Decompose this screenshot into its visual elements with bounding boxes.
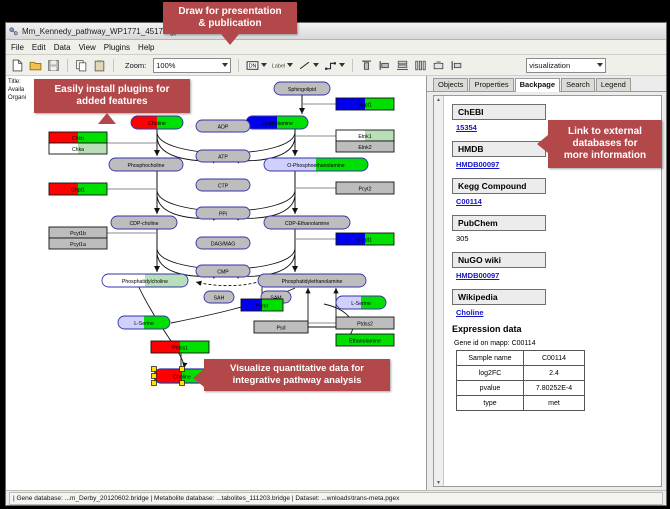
gene-sgpl1[interactable]: Sgpl1: [336, 98, 394, 110]
gene-ethanolamine2[interactable]: Ethanolamine: [336, 334, 394, 346]
scroll-down-icon[interactable]: ▼: [435, 479, 442, 486]
table-row: log2FC 2.4: [457, 366, 585, 381]
group-icon[interactable]: [432, 59, 445, 72]
node-label: L-Serine: [351, 301, 371, 307]
selection-handle[interactable]: [180, 381, 185, 386]
chevron-down-icon[interactable]: [261, 63, 267, 67]
pathway-canvas[interactable]: Title: Availa Organi: [6, 76, 427, 490]
metabolite-l-serine-right[interactable]: L-Serine: [336, 296, 386, 309]
backpage-header-nugo: NuGO wiki: [452, 252, 546, 268]
menu-item-edit[interactable]: Edit: [32, 43, 46, 52]
zoom-combobox[interactable]: 100%: [153, 58, 231, 73]
screenshot-root: Mm_Kennedy_pathway_WP1771_45176.gpml Fil…: [0, 0, 670, 509]
node-label: CDP-choline: [129, 221, 158, 227]
menu-item-plugins[interactable]: Plugins: [104, 43, 130, 52]
callout-visualize: Visualize quantitative data for integrat…: [204, 359, 390, 391]
node-label: Pemt: [256, 304, 269, 310]
node-label: Phosphatidylcholine: [122, 279, 168, 285]
node-label: CDP-Ethanolamine: [285, 221, 330, 227]
table-row: Sample name C00114: [457, 351, 585, 366]
table-row: type met: [457, 396, 585, 411]
visualization-combobox[interactable]: visualization: [526, 58, 606, 73]
node-label: Choline: [148, 121, 166, 127]
node-label: Ptdss1: [172, 346, 188, 352]
menu-item-view[interactable]: View: [79, 43, 96, 52]
chevron-down-icon[interactable]: [597, 63, 603, 67]
node-label: Pcyt1b: [70, 231, 86, 237]
callout-plugins: Easily install plugins for added feature…: [34, 79, 190, 113]
align-left-icon[interactable]: [378, 59, 391, 72]
label-tool[interactable]: Label: [272, 59, 293, 72]
callout-external-line2: databases for: [564, 138, 646, 150]
node-label: ADP: [218, 125, 229, 131]
node-label: PPi: [219, 212, 227, 218]
toolbar-separator: [67, 59, 68, 72]
menu-item-data[interactable]: Data: [54, 43, 71, 52]
callout-external: Link to external databases for more info…: [548, 120, 662, 168]
metabolite-l-serine-left[interactable]: L-Serine: [118, 316, 170, 329]
tab-search[interactable]: Search: [561, 78, 595, 91]
metabolite-adp[interactable]: ADP: [196, 120, 250, 132]
chevron-down-icon[interactable]: [313, 63, 319, 67]
save-icon[interactable]: [47, 59, 60, 72]
node-label: Chpt1: [71, 188, 85, 194]
metabolite-cmp[interactable]: CMP: [196, 265, 250, 277]
status-text: | Gene database: ...m_Derby_20120602.bri…: [9, 492, 663, 505]
bring-front-icon[interactable]: [450, 59, 463, 72]
callout-plugins-line2: added features: [54, 96, 169, 108]
callout-visualize-arrow-icon: [193, 369, 204, 387]
expr-val-sample-name: C00114: [524, 351, 585, 366]
node-label: Chkb: [72, 136, 84, 142]
gene-pcyt2[interactable]: Pcyt2: [336, 182, 394, 194]
toolbar-separator: [352, 59, 353, 72]
expr-key-type: type: [457, 396, 524, 411]
side-panel-tabs: Objects Properties Backpage Search Legen…: [427, 76, 666, 92]
node-label: Etnk1: [358, 134, 371, 140]
expr-key-log2fc: log2FC: [457, 366, 524, 381]
connector-tool[interactable]: [324, 59, 345, 72]
connector-icon[interactable]: [324, 59, 337, 72]
callout-plugins-arrow-icon: [98, 113, 116, 124]
gene-id-on-mapp: Gene id on mapp: C00114: [454, 340, 655, 347]
node-label: ATP: [218, 155, 228, 161]
metabolite-ppi[interactable]: PPi: [196, 207, 250, 219]
callout-external-arrow-icon: [537, 135, 548, 153]
zoom-label: Zoom:: [125, 61, 146, 70]
node-label: CTP: [218, 184, 229, 190]
gene-chkb[interactable]: Chkb: [49, 132, 107, 143]
selection-handle[interactable]: [152, 367, 157, 372]
pathvisio-icon: [9, 27, 18, 36]
node-label: SAH: [214, 296, 225, 302]
expr-key-pvalue: pvalue: [457, 381, 524, 396]
node-label: Psd: [277, 326, 286, 332]
align-top-icon[interactable]: [360, 59, 373, 72]
metabolite-ctp[interactable]: CTP: [196, 179, 250, 191]
metabolite-cdp-ethanolamine[interactable]: CDP-Ethanolamine: [264, 216, 350, 229]
expr-val-pvalue: 7.80252E-4: [524, 381, 585, 396]
gene-cept1[interactable]: Cept1: [336, 233, 394, 245]
expression-data-table: Sample name C00114 log2FC 2.4 pvalue 7.8…: [456, 350, 585, 411]
metabolite-cdp-choline[interactable]: CDP-choline: [111, 216, 177, 229]
menu-bar: File Edit Data View Plugins Help: [6, 40, 666, 55]
gene-pemt[interactable]: Pemt: [241, 299, 283, 311]
node-label: Pcyt1a: [70, 242, 86, 248]
metabolite-phosphocholine[interactable]: Phosphocholine: [109, 158, 183, 171]
line-icon[interactable]: [298, 59, 311, 72]
title-bar: Mm_Kennedy_pathway_WP1771_45176.gpml: [6, 23, 666, 40]
backpage-value-pubchem: 305: [456, 234, 655, 243]
callout-plugins-line1: Easily install plugins for: [54, 84, 169, 96]
node-label: Etnk2: [358, 145, 371, 151]
node-label: Sphingolipid: [288, 87, 316, 93]
selection-handle[interactable]: [152, 374, 157, 379]
expression-data-title: Expression data: [452, 324, 655, 334]
expr-val-log2fc: 2.4: [524, 366, 585, 381]
gene-etnk1[interactable]: Etnk1: [336, 130, 394, 141]
zoom-value: 100%: [156, 61, 175, 70]
backpage-header-pubchem: PubChem: [452, 215, 546, 231]
node-label: L-Serine: [134, 321, 154, 327]
gene-ptdss1[interactable]: Ptdss1: [151, 341, 209, 353]
toolbar-separator: [238, 59, 239, 72]
tab-legend[interactable]: Legend: [596, 78, 631, 91]
expr-val-type: met: [524, 396, 585, 411]
menu-item-file[interactable]: File: [11, 43, 24, 52]
gene-pcyt1a[interactable]: Pcyt1a: [49, 238, 107, 249]
menu-item-help[interactable]: Help: [138, 43, 154, 52]
toolbar: Zoom: 100% DN Label: [6, 55, 666, 76]
tab-objects[interactable]: Objects: [433, 78, 468, 91]
selection-handle[interactable]: [180, 367, 185, 372]
status-bar: | Gene database: ...m_Derby_20120602.bri…: [6, 490, 666, 505]
datanode-tool[interactable]: DN: [246, 59, 267, 72]
gene-chpt1[interactable]: Chpt1: [49, 183, 107, 195]
backpage-link-wikipedia[interactable]: Choline: [456, 308, 655, 317]
callout-draw-line2: & publication: [178, 18, 281, 30]
tab-backpage[interactable]: Backpage: [515, 78, 560, 92]
node-label: Choline: [173, 375, 191, 381]
node-label: Phosphocholine: [128, 163, 165, 169]
callout-external-line3: more information: [564, 150, 646, 162]
node-label: O-Phosphoethanolamine: [287, 163, 345, 169]
metabolite-sah[interactable]: SAH: [204, 291, 234, 303]
label-icon[interactable]: Label: [272, 59, 285, 72]
node-label: Sgpl1: [358, 103, 371, 109]
gene-chka[interactable]: Chka: [49, 143, 107, 154]
pathvisio-window: Mm_Kennedy_pathway_WP1771_45176.gpml Fil…: [5, 22, 667, 506]
toolbar-separator: [113, 59, 114, 72]
backpage-link-kegg[interactable]: C00114: [456, 197, 655, 206]
callout-draw-arrow-icon: [221, 34, 239, 45]
callout-draw-line1: Draw for presentation: [178, 6, 281, 18]
node-label: Ptdss2: [357, 322, 373, 328]
metabolite-phosphatidylethanolamine[interactable]: Phosphatidylethanolamine: [258, 274, 366, 287]
open-folder-icon[interactable]: [29, 59, 42, 72]
metabolite-phosphatidylcholine[interactable]: Phosphatidylcholine: [102, 274, 188, 287]
line-tool[interactable]: [298, 59, 319, 72]
metabolite-dagmag[interactable]: DAG/MAG: [196, 237, 250, 249]
vertical-scrollbar[interactable]: ▲ ▼: [434, 96, 444, 486]
distribute-icon[interactable]: [414, 59, 427, 72]
metabolite-choline[interactable]: Choline: [131, 116, 183, 129]
backpage-header-kegg: Kegg Compound: [452, 178, 546, 194]
table-row: pvalue 7.80252E-4: [457, 381, 585, 396]
node-label: Ethanolamine: [261, 121, 293, 127]
expr-key-sample-name: Sample name: [457, 351, 524, 366]
node-label: Chka: [72, 147, 84, 153]
callout-draw: Draw for presentation & publication: [163, 2, 297, 34]
datanode-icon[interactable]: DN: [246, 59, 259, 72]
chevron-down-icon[interactable]: [287, 63, 293, 67]
selection-handle[interactable]: [152, 381, 157, 386]
backpage-header-wikipedia: Wikipedia: [452, 289, 546, 305]
metabolite-o-phosphoethanolamine[interactable]: O-Phosphoethanolamine: [264, 158, 368, 171]
gene-psd[interactable]: Psd: [254, 321, 308, 333]
gene-pcyt1b[interactable]: Pcyt1b: [49, 227, 107, 238]
svg-text:Label: Label: [272, 64, 285, 70]
paste-icon[interactable]: [93, 59, 106, 72]
node-label: Ethanolamine: [349, 339, 381, 345]
node-layer[interactable]: CholineEthanolaminePhosphocholineO-Phosp…: [49, 82, 394, 386]
tab-properties[interactable]: Properties: [469, 78, 513, 91]
metabolite-atp[interactable]: ATP: [196, 150, 250, 162]
backpage-header-chebi: ChEBI: [452, 104, 546, 120]
chevron-down-icon[interactable]: [339, 63, 345, 67]
metabolite-ethanolamine[interactable]: Ethanolamine: [246, 116, 308, 129]
callout-visualize-line2: integrative pathway analysis: [230, 375, 364, 387]
callout-visualize-line1: Visualize quantitative data for: [230, 363, 364, 375]
stack-icon[interactable]: [396, 59, 409, 72]
node-label: Phosphatidylethanolamine: [282, 279, 343, 285]
node-label: CMP: [217, 270, 229, 276]
copy-icon[interactable]: [75, 59, 88, 72]
gene-ptdss2[interactable]: Ptdss2: [336, 317, 394, 329]
backpage-link-nugo[interactable]: HMDB00097: [456, 271, 655, 280]
gene-etnk2[interactable]: Etnk2: [336, 141, 394, 152]
node-label: Pcyt2: [359, 187, 372, 193]
visualization-value: visualization: [529, 61, 570, 70]
backpage-header-hmdb: HMDB: [452, 141, 546, 157]
metabolite-sphingolipid[interactable]: Sphingolipid: [274, 82, 330, 95]
node-label: DAG/MAG: [211, 242, 236, 248]
chevron-down-icon[interactable]: [222, 63, 228, 67]
svg-text:DN: DN: [249, 63, 257, 69]
scroll-up-icon[interactable]: ▲: [435, 96, 442, 103]
pathway-svg[interactable]: CholineEthanolaminePhosphocholineO-Phosp…: [6, 76, 426, 490]
new-file-icon[interactable]: [11, 59, 24, 72]
node-label: Cept1: [358, 238, 372, 244]
callout-external-line1: Link to external: [564, 126, 646, 138]
